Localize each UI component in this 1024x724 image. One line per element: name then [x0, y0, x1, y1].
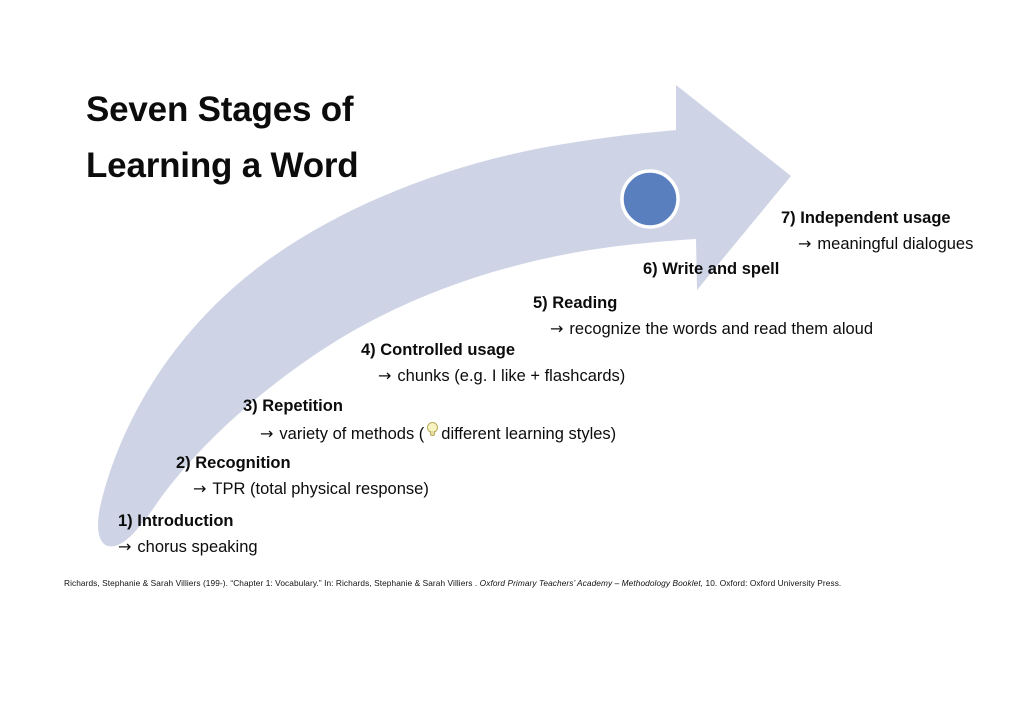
- lightbulb-icon: [425, 422, 440, 439]
- right-arrow-icon: →: [260, 426, 273, 442]
- slide-page: Seven Stages of Learning a Word 7) Indep…: [0, 0, 1024, 724]
- lightbulb-base: [430, 431, 435, 436]
- stage-2-title: 2) Recognition: [176, 453, 429, 473]
- stage-1-title: 1) Introduction: [118, 511, 258, 531]
- stage-5-title: 5) Reading: [533, 293, 873, 313]
- blue-circle-marker: [622, 171, 678, 227]
- stage-2-detail-text: TPR (total physical response): [212, 479, 428, 499]
- stage-1-detail-text: chorus speaking: [137, 537, 257, 557]
- right-arrow-icon: →: [193, 481, 206, 497]
- stage-6-title: 6) Write and spell: [643, 259, 779, 279]
- right-arrow-icon: →: [378, 368, 391, 384]
- right-arrow-icon: →: [798, 236, 811, 252]
- citation: Richards, Stephanie & Sarah Villiers (19…: [64, 578, 841, 589]
- stage-1-introduction: 1) Introduction → chorus speaking: [118, 511, 258, 557]
- stage-5-detail-text: recognize the words and read them aloud: [569, 319, 873, 339]
- stage-3-detail-text-after: different learning styles): [441, 424, 616, 444]
- stage-7-title: 7) Independent usage: [781, 208, 973, 228]
- stage-4-title: 4) Controlled usage: [361, 340, 625, 360]
- stage-3-detail-text-before: variety of methods (: [279, 424, 424, 444]
- page-title: Seven Stages of Learning a Word: [86, 92, 359, 183]
- citation-part-2: 10. Oxford: Oxford University Press.: [703, 578, 841, 588]
- right-arrow-icon: →: [118, 539, 131, 555]
- stage-3-repetition: 3) Repetition → variety of methods ( dif…: [243, 396, 616, 444]
- stage-3-detail: → variety of methods ( different learnin…: [243, 422, 616, 444]
- stage-2-detail: → TPR (total physical response): [176, 479, 429, 499]
- stage-5-detail: → recognize the words and read them alou…: [533, 319, 873, 339]
- stage-7-independent-usage: 7) Independent usage → meaningful dialog…: [781, 208, 973, 254]
- page-title-line-2: Learning a Word: [86, 148, 359, 183]
- stage-7-detail: → meaningful dialogues: [781, 234, 973, 254]
- right-arrow-icon: →: [550, 321, 563, 337]
- citation-title-italic: Oxford Primary Teachers’ Academy – Metho…: [480, 578, 703, 588]
- stage-4-controlled-usage: 4) Controlled usage → chunks (e.g. I lik…: [361, 340, 625, 386]
- stage-4-detail: → chunks (e.g. I like + flashcards): [361, 366, 625, 386]
- stage-3-title: 3) Repetition: [243, 396, 616, 416]
- stage-7-detail-text: meaningful dialogues: [817, 234, 973, 254]
- stage-6-write-and-spell: 6) Write and spell: [643, 259, 779, 279]
- stage-4-detail-text: chunks (e.g. I like + flashcards): [397, 366, 625, 386]
- page-title-line-1: Seven Stages of: [86, 92, 359, 127]
- citation-part-1: Richards, Stephanie & Sarah Villiers (19…: [64, 578, 480, 588]
- stage-1-detail: → chorus speaking: [118, 537, 258, 557]
- stage-5-reading: 5) Reading → recognize the words and rea…: [533, 293, 873, 339]
- stage-2-recognition: 2) Recognition → TPR (total physical res…: [176, 453, 429, 499]
